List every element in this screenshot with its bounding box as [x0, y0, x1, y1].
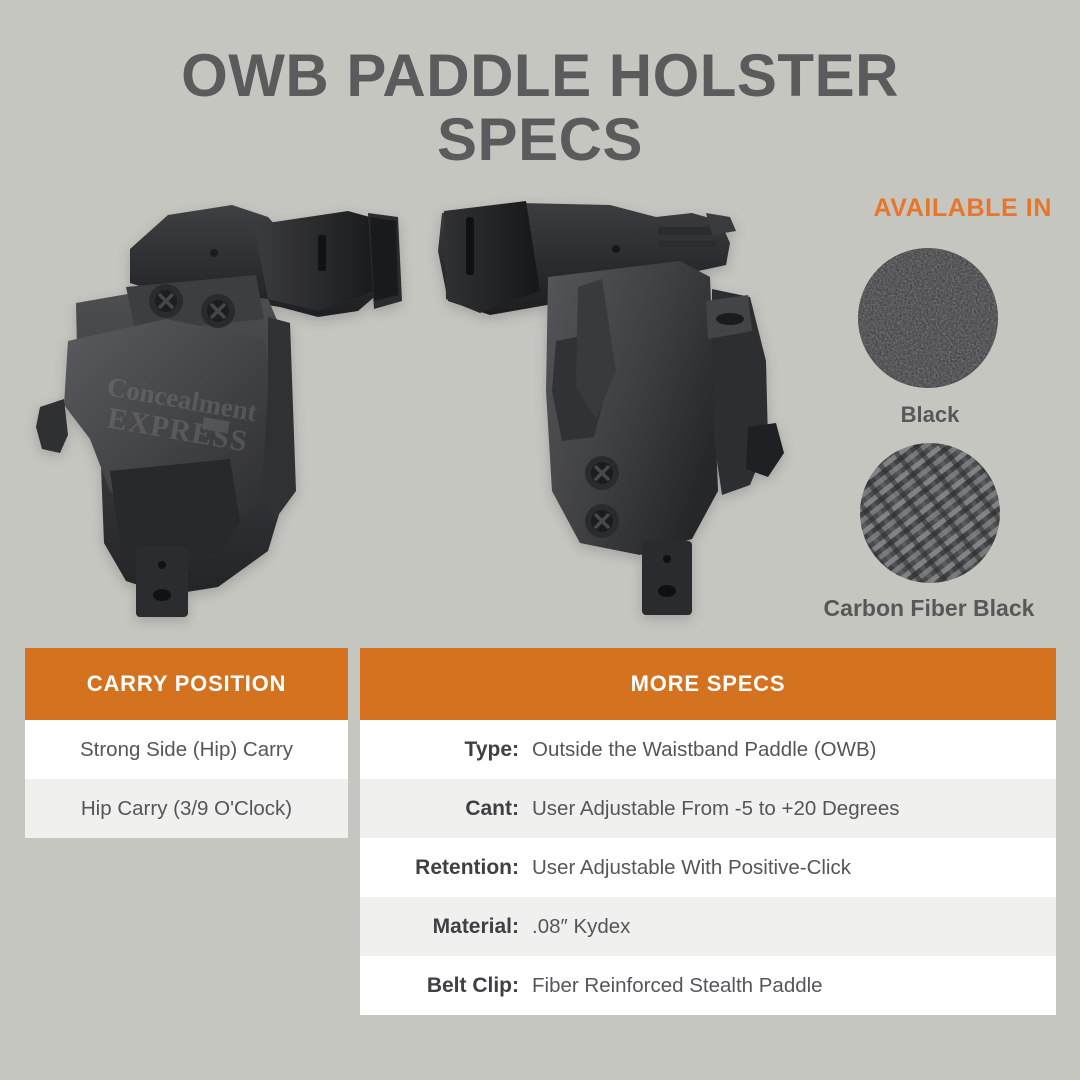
- magwell-inner: [370, 217, 398, 301]
- spec-label: Retention:: [360, 856, 532, 880]
- table-row: Type: Outside the Waistband Paddle (OWB): [360, 720, 1056, 779]
- page-title-line1: OWB PADDLE HOLSTER: [0, 44, 1080, 108]
- more-specs-table: MORE SPECS Type: Outside the Waistband P…: [360, 648, 1056, 1015]
- clip-slot: [716, 313, 744, 325]
- carry-position-value: Hip Carry (3/9 O'Clock): [81, 797, 292, 821]
- grip-slot: [318, 235, 326, 271]
- table-row: Retention: User Adjustable With Positive…: [360, 838, 1056, 897]
- stem-hole-1: [158, 561, 166, 569]
- spec-value: Fiber Reinforced Stealth Paddle: [532, 974, 1056, 998]
- carry-position-value: Strong Side (Hip) Carry: [80, 738, 293, 762]
- page-title: OWB PADDLE HOLSTER SPECS: [0, 44, 1080, 172]
- spec-value: User Adjustable From -5 to +20 Degrees: [532, 797, 1056, 821]
- spec-label: Material:: [360, 915, 532, 939]
- spec-value: .08″ Kydex: [532, 915, 1056, 939]
- spec-label: Cant:: [360, 797, 532, 821]
- grip-slot: [466, 217, 474, 275]
- table-row: Cant: User Adjustable From -5 to +20 Deg…: [360, 779, 1056, 838]
- product-image-stage: Concealment EXPRESS: [0, 185, 800, 625]
- holster-side-profile-image: [430, 191, 810, 621]
- swatch-label-carbon-fiber: Carbon Fiber Black: [789, 595, 1069, 622]
- spec-value: User Adjustable With Positive-Click: [532, 856, 1056, 880]
- paddle-stem: [136, 547, 188, 617]
- spec-value: Outside the Waistband Paddle (OWB): [532, 738, 1056, 762]
- stem-hole-2: [658, 585, 676, 597]
- table-row: Hip Carry (3/9 O'Clock): [25, 779, 348, 838]
- swatch-label-black: Black: [790, 402, 1070, 428]
- stem-hole-1: [663, 555, 671, 563]
- spec-label: Belt Clip:: [360, 974, 532, 998]
- paddle-hook: [36, 399, 68, 453]
- table-row: Material: .08″ Kydex: [360, 897, 1056, 956]
- spec-label: Type:: [360, 738, 532, 762]
- available-colors-panel: AVAILABLE IN Black: [790, 190, 1070, 630]
- page-title-line2: SPECS: [0, 108, 1080, 172]
- more-specs-header: MORE SPECS: [360, 648, 1056, 720]
- available-in-heading: AVAILABLE IN: [874, 194, 1053, 223]
- table-row: Strong Side (Hip) Carry: [25, 720, 348, 779]
- slide-serration-1: [658, 227, 716, 235]
- slide-serration-2: [658, 241, 716, 247]
- table-row: Belt Clip: Fiber Reinforced Stealth Padd…: [360, 956, 1056, 1015]
- paddle-hook: [746, 423, 784, 477]
- carry-position-header: CARRY POSITION: [25, 648, 348, 720]
- stem-hole-2: [153, 589, 171, 601]
- black-texture-swatch[interactable]: [858, 248, 998, 388]
- carbon-fiber-swatch[interactable]: [860, 443, 1000, 583]
- holster-front-paddle-image: Concealment EXPRESS: [18, 191, 418, 621]
- takedown-pin: [612, 245, 620, 253]
- pistol-grip: [444, 201, 540, 313]
- takedown-pin: [210, 249, 218, 257]
- paddle-stem: [642, 541, 692, 615]
- carry-position-table: CARRY POSITION Strong Side (Hip) Carry H…: [25, 648, 348, 838]
